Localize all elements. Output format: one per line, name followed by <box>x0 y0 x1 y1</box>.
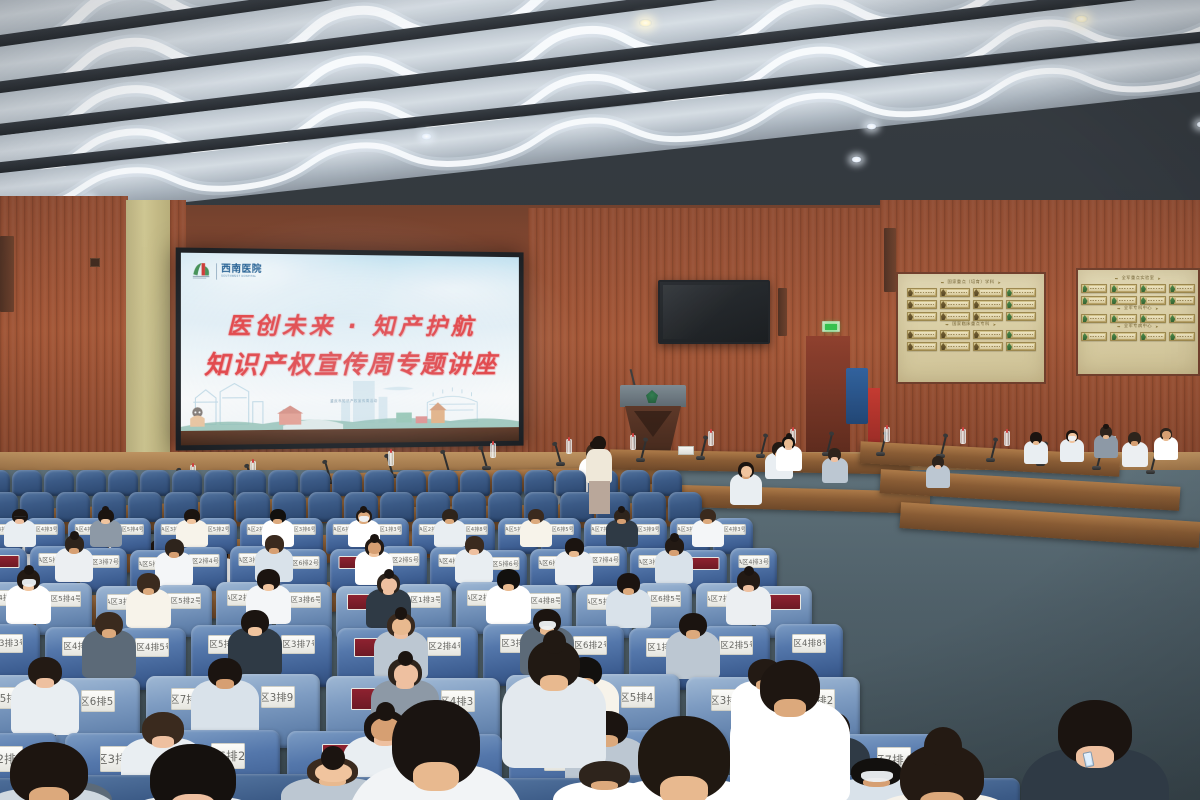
logo-name-en: SOUTHWEST HOSPITAL <box>221 275 262 278</box>
attendee-hair-bun <box>376 702 395 721</box>
attendee-torso <box>606 520 638 547</box>
attendee-face <box>394 664 418 685</box>
standing-bottom <box>589 481 610 514</box>
microphone-base <box>756 454 765 458</box>
wall-mounted-tv[interactable] <box>658 280 770 344</box>
honor-plaque <box>973 330 1003 339</box>
seat-number-text: A区4排3号 <box>32 526 58 533</box>
honor-plaque <box>1169 284 1195 293</box>
microphone-base <box>556 462 565 466</box>
seat-number-text: A区5排4号 <box>118 526 144 533</box>
attendee-neck <box>1103 435 1109 439</box>
attendee-hair-bun <box>70 531 79 540</box>
seat-number-plate: A区3排9号 <box>767 594 801 610</box>
attendee-neck <box>69 548 79 554</box>
seat-number-text: A区3排9号 <box>634 526 660 533</box>
honor-plaque <box>1081 314 1107 323</box>
plaque-emblem-icon <box>1112 333 1117 340</box>
attendee-neck <box>531 519 539 524</box>
plaque-label <box>947 302 968 307</box>
attendee-torso <box>4 520 36 547</box>
plaque-emblem-icon <box>974 331 979 338</box>
seat-number-text: A区1排3号 <box>376 526 402 533</box>
slide-cityscape-illustration <box>181 367 519 431</box>
plaque-emblem-icon <box>941 343 946 350</box>
plaque-emblem-icon <box>1141 315 1146 322</box>
led-presentation-screen: 西南医院 SOUTHWEST HOSPITAL 医创未来 · 知产护航 知识产权… <box>176 247 524 450</box>
seat-number-plate: A区4排3号 <box>32 524 58 535</box>
honor-plaque <box>907 330 937 339</box>
attendee-neck <box>743 585 755 592</box>
honor-plaque <box>1006 300 1036 309</box>
attendee-face <box>392 618 412 635</box>
attendee-neck <box>617 519 625 524</box>
board-section-header: ➥全军重点实验室➤ <box>1081 275 1195 281</box>
water-bottle <box>566 439 572 454</box>
honor-plaque <box>1169 314 1195 323</box>
attendee-hair-bun <box>744 566 754 576</box>
attendee-hair-bun <box>395 607 408 620</box>
plaque-row <box>1081 314 1195 323</box>
plaque-row <box>901 288 1041 297</box>
slide-bottom-bar <box>181 427 519 445</box>
plaque-emblem-icon <box>1007 331 1012 338</box>
plaque-label <box>1013 290 1034 295</box>
attendee-neck <box>143 588 155 595</box>
honor-plaque <box>940 312 970 321</box>
plaque-label <box>1118 298 1135 303</box>
attendee-face <box>741 466 753 477</box>
plaque-label <box>1089 298 1106 303</box>
attendee-hair-bun <box>786 433 792 439</box>
honor-plaque <box>1110 284 1136 293</box>
plaque-emblem-icon <box>908 289 913 296</box>
water-bottle <box>708 431 714 446</box>
exit-sign <box>822 321 840 332</box>
seat-number-text: A区3排7号 <box>281 638 315 650</box>
conference-hall-photo: 西南医院 SOUTHWEST HOSPITAL 医创未来 · 知产护航 知识产权… <box>0 0 1200 800</box>
honor-plaque <box>1006 288 1036 297</box>
plaque-label <box>1013 344 1034 349</box>
desk-nameplate <box>678 446 694 455</box>
honor-plaque <box>1081 332 1107 341</box>
plaque-label <box>1089 334 1106 339</box>
attendee-hair-bun <box>1103 424 1109 430</box>
seat-number-text: A区3排9号 <box>261 689 295 704</box>
plaque-emblem-icon <box>1007 301 1012 308</box>
plaque-emblem-icon <box>1112 297 1117 304</box>
attendee-neck <box>413 762 459 791</box>
seat-number-text: A区4排3号 <box>738 557 769 566</box>
honor-plaque <box>1169 332 1195 341</box>
seat-number-plate: A区5排4号 <box>621 686 655 708</box>
ornament-icon: ➥ <box>1117 324 1121 329</box>
seat-number-plate: A区2排4号 <box>427 637 461 656</box>
board-header-text: 全军专科中心 <box>1124 305 1152 311</box>
board-section-header: ➥全军专病中心➤ <box>1081 323 1195 329</box>
seat-number-plate: A区3排9号 <box>261 686 295 708</box>
honor-plaque <box>907 312 937 321</box>
exit-sign-light <box>825 324 837 330</box>
attendee-face <box>1162 431 1171 439</box>
board-section-header: ➥国家临床重点专科➤ <box>901 321 1041 327</box>
honor-plaque <box>940 288 970 297</box>
wall-speaker-left <box>0 236 14 312</box>
honor-plaque <box>1110 332 1136 341</box>
plaque-emblem-icon <box>1141 333 1146 340</box>
honor-plaque <box>907 288 937 297</box>
plaque-label <box>947 332 968 337</box>
plaque-label <box>1089 286 1106 291</box>
water-bottle <box>884 427 890 442</box>
plaque-label <box>914 332 935 337</box>
plaque-emblem-icon <box>1112 285 1117 292</box>
attendee-neck <box>623 588 635 595</box>
honor-plaque <box>940 342 970 351</box>
attendee-hair-bun <box>670 533 679 542</box>
wall-speaker-right <box>884 228 896 292</box>
honor-plaque <box>907 300 937 309</box>
ornament-icon: ➤ <box>1157 276 1161 281</box>
honor-plaque <box>940 330 970 339</box>
seat-number-plate: A区1排3号 <box>376 524 402 535</box>
board-section-header: ➥国家重点（培育）学科➤ <box>901 279 1041 285</box>
ornament-icon: ➥ <box>945 322 949 327</box>
plaque-emblem-icon <box>1083 297 1088 304</box>
seat-number-plate: A区6排5号 <box>647 591 681 607</box>
seat-number-plate: A区4排8号 <box>462 524 488 535</box>
attendee-hair-bun <box>370 534 379 543</box>
plaque-label <box>1118 316 1135 321</box>
ornament-icon: ➤ <box>1155 324 1159 329</box>
ceiling-spotlight <box>851 156 862 163</box>
seat-number-plate: A区6排5号 <box>548 524 574 535</box>
attendee-neck <box>269 548 279 554</box>
plaque-emblem-icon <box>1007 313 1012 320</box>
plaque-emblem-icon <box>941 301 946 308</box>
honor-plaque <box>1110 296 1136 305</box>
av-equipment-box <box>846 368 868 424</box>
attendee-neck <box>660 776 708 800</box>
seat-number-text: A区1排3号 <box>407 595 441 605</box>
plaque-label <box>1176 334 1193 339</box>
ceiling-spotlight <box>866 123 877 130</box>
plaque-row <box>1081 332 1195 341</box>
plaque-label <box>1089 316 1106 321</box>
attendee-neck <box>445 519 453 524</box>
seat-number-text: A区4排5号 <box>135 641 169 653</box>
slide-content: 西南医院 SOUTHWEST HOSPITAL 医创未来 · 知产护航 知识产权… <box>181 253 519 446</box>
seat-number-plate: A区5排4号 <box>47 591 81 607</box>
seat-number-text: A区3排6号 <box>287 595 321 605</box>
plaque-emblem-icon <box>941 313 946 320</box>
seat-number-plate: A区5排4号 <box>118 524 144 535</box>
water-bottle <box>388 451 394 466</box>
ornament-icon: ➥ <box>1115 276 1119 281</box>
plaque-label <box>914 290 935 295</box>
honor-plaque <box>973 288 1003 297</box>
ornament-icon: ➥ <box>1117 306 1121 311</box>
plaque-emblem-icon <box>974 301 979 308</box>
plaque-label <box>947 290 968 295</box>
plaque-emblem-icon <box>908 343 913 350</box>
water-bottle <box>630 435 636 450</box>
ornament-icon: ➤ <box>1155 306 1159 311</box>
seat-number-text: A区2排5号 <box>719 639 753 651</box>
attendee-head <box>150 744 236 800</box>
attendee-neck <box>669 550 679 556</box>
plaque-label <box>947 314 968 319</box>
attendee-torso <box>692 520 724 547</box>
ceiling-spotlight <box>421 133 432 140</box>
honor-plaque <box>1140 332 1166 341</box>
eyeglasses <box>14 516 26 518</box>
attendee-neck <box>935 465 941 469</box>
seat-number-text: A区4排3号 <box>720 526 746 533</box>
attendee-neck <box>469 549 479 555</box>
seat-number-plate: A区4排5号 <box>0 555 19 568</box>
plaque-emblem-icon <box>908 313 913 320</box>
seat-number-text: A区5排4号 <box>47 594 81 604</box>
plaque-label <box>980 332 1001 337</box>
plaque-label <box>1176 286 1193 291</box>
plaque-label <box>1147 298 1164 303</box>
seat-number-text: A区6排5号 <box>81 693 115 708</box>
attendee-neck <box>248 627 262 635</box>
seat-number-plate: A区6排2号 <box>573 636 607 655</box>
attendee-neck <box>273 519 281 524</box>
attendee-neck <box>187 519 195 524</box>
honor-plaque <box>1006 312 1036 321</box>
attendee-neck <box>1033 441 1039 445</box>
plaque-emblem-icon <box>1170 315 1175 322</box>
seat-number-text: A区4排8号 <box>462 526 488 533</box>
seat-number-text: A区3排3号 <box>0 637 23 649</box>
face-mask <box>1068 436 1075 441</box>
plaque-label <box>980 290 1001 295</box>
attendee-neck <box>1131 441 1138 445</box>
plaque-label <box>1013 314 1034 319</box>
attendee-neck <box>774 699 805 717</box>
seat-number-plate: A区5排2号 <box>204 524 230 535</box>
attendee-neck <box>569 551 579 557</box>
honor-plaque <box>1140 314 1166 323</box>
plaque-emblem-icon <box>1170 297 1175 304</box>
seat-number-text: A区3排6号 <box>290 526 316 533</box>
plaque-emblem-icon <box>1170 285 1175 292</box>
microphone-base <box>696 456 705 460</box>
side-doorway[interactable] <box>806 336 850 454</box>
honor-plaque <box>973 312 1003 321</box>
plaque-emblem-icon <box>1007 343 1012 350</box>
seat-number-plate: A区3排6号 <box>290 524 316 535</box>
plaque-label <box>914 314 935 319</box>
attendee-neck <box>152 736 174 747</box>
honor-plaque <box>1081 296 1107 305</box>
honor-plaque <box>1006 342 1036 351</box>
mascot-figure <box>190 407 204 427</box>
board-header-text: 全军重点实验室 <box>1122 275 1155 281</box>
seat-number-text: A区5排2号 <box>204 526 230 533</box>
honor-board-left: ➥国家重点（培育）学科➤➥国家临床重点专科➤ <box>896 272 1046 384</box>
standing-attendee <box>586 436 612 514</box>
ceiling-spotlight <box>1196 121 1200 128</box>
seat-number-text: A区5排2号 <box>167 596 201 606</box>
attendee-neck <box>169 552 179 558</box>
honor-plaque <box>1110 314 1136 323</box>
attendee-neck <box>686 630 700 638</box>
ornament-icon: ➤ <box>993 322 997 327</box>
ornament-icon: ➤ <box>997 280 1001 285</box>
honor-plaque <box>973 300 1003 309</box>
plaque-row <box>1081 296 1195 305</box>
seat-number-text: A区6排5号 <box>647 594 681 604</box>
water-bottle <box>1004 431 1010 446</box>
ornament-icon: ➥ <box>941 280 945 285</box>
attendee-face <box>381 578 397 593</box>
logo-name-cn: 西南医院 <box>221 264 262 274</box>
attendee-neck <box>102 629 116 637</box>
wall-control-panel-left[interactable] <box>90 258 100 267</box>
honor-plaque <box>1081 284 1107 293</box>
board-section-header: ➥全军专科中心➤ <box>1081 305 1195 311</box>
attendee-neck <box>503 584 515 591</box>
plaque-emblem-icon <box>1083 333 1088 340</box>
microphone-base <box>1092 466 1101 470</box>
plaque-emblem-icon <box>1141 297 1146 304</box>
seat-number-text: A区6排2号 <box>573 639 607 651</box>
plaque-label <box>1118 286 1135 291</box>
attendee-neck <box>540 675 567 691</box>
microphone-base <box>986 458 995 462</box>
plaque-label <box>980 302 1001 307</box>
microphone-base <box>636 458 645 462</box>
seat-number-plate: A区3排3号 <box>0 634 23 653</box>
wall-speaker-center <box>778 288 787 336</box>
plaque-emblem-icon <box>1141 285 1146 292</box>
plaque-emblem-icon <box>941 331 946 338</box>
board-header-text: 国家临床重点专科 <box>952 321 990 327</box>
attendee-neck <box>216 679 233 689</box>
plaque-emblem-icon <box>941 289 946 296</box>
plaque-row <box>901 330 1041 339</box>
seat-number-plate: A区4排8号 <box>527 593 561 609</box>
plaque-emblem-icon <box>908 301 913 308</box>
standing-top <box>586 449 612 483</box>
attendee-torso <box>90 520 122 547</box>
plaque-emblem-icon <box>974 343 979 350</box>
attendee-hair-bun <box>24 565 34 575</box>
attendee-neck <box>591 781 618 791</box>
seat-number-text: A区6排5号 <box>548 526 574 533</box>
ceiling <box>0 0 1200 230</box>
attendee-torso <box>520 520 552 547</box>
honor-plaque <box>1006 330 1036 339</box>
honor-board-right: ➥全军重点实验室➤➥全军专科中心➤➥全军专病中心➤ <box>1076 268 1200 376</box>
seat-number-plate: A区5排2号 <box>167 593 201 609</box>
plaque-label <box>980 344 1001 349</box>
plaque-emblem-icon <box>1170 333 1175 340</box>
board-header-text: 国家重点（培育）学科 <box>948 279 995 285</box>
plaque-label <box>914 344 935 349</box>
phone-screen-content <box>1085 754 1092 766</box>
attendee-hair-bun <box>321 746 345 770</box>
honor-plaque <box>1140 284 1166 293</box>
ceiling-spotlight <box>1075 15 1088 23</box>
attendee-hair-bun <box>924 727 963 766</box>
plaque-label <box>947 344 968 349</box>
seat-number-plate: A区4排5号 <box>135 638 169 657</box>
logo-divider <box>216 263 217 279</box>
attendee-neck <box>101 519 109 524</box>
seat-number-plate: A区4排3号 <box>738 555 769 568</box>
plaque-label <box>1147 286 1164 291</box>
microphone-base <box>876 452 885 456</box>
seat-number-plate: A区1排3号 <box>407 592 441 608</box>
microphone-base <box>1146 470 1155 474</box>
attendee-neck <box>703 519 711 524</box>
attendee-hair-bun <box>384 569 394 579</box>
face-mask <box>359 516 369 522</box>
seat-number-plate: A区4排3号 <box>720 524 746 535</box>
attendee-neck <box>15 519 23 524</box>
slide-logo: 西南医院 SOUTHWEST HOSPITAL <box>191 261 262 281</box>
plaque-row <box>901 300 1041 309</box>
seat-number-text: A区2排4号 <box>427 640 461 652</box>
honor-plaque <box>1140 296 1166 305</box>
seat-number-plate: A区4排8号 <box>792 634 826 653</box>
plaque-label <box>980 314 1001 319</box>
attendee-hair-bun <box>543 630 567 654</box>
wall-panel-left <box>0 196 128 496</box>
plaque-label <box>1147 334 1164 339</box>
plaque-label <box>1013 332 1034 337</box>
seat-number-plate: A区3排9号 <box>634 524 660 535</box>
attendee-neck <box>29 787 70 800</box>
plaque-label <box>1147 316 1164 321</box>
seat-number-text: A区5排4号 <box>621 689 655 704</box>
water-bottle <box>960 429 966 444</box>
seat-number-plate: A区3排6号 <box>287 592 321 608</box>
slide-title-line-1: 医创未来 · 知产护航 <box>181 306 519 341</box>
board-header-text: 全军专病中心 <box>1124 323 1152 329</box>
ceiling-spotlight <box>639 19 652 27</box>
seat-number-plate: A区6排5号 <box>81 690 115 712</box>
honor-plaque <box>940 300 970 309</box>
attendee-neck <box>263 584 275 591</box>
honor-plaque <box>907 342 937 351</box>
plaque-row <box>901 342 1041 351</box>
seat-number-plate: A区2排5号 <box>719 636 753 655</box>
plaque-emblem-icon <box>908 331 913 338</box>
plaque-label <box>914 302 935 307</box>
attendee-neck <box>1076 746 1114 768</box>
plaque-emblem-icon <box>1083 285 1088 292</box>
plaque-emblem-icon <box>1007 289 1012 296</box>
plaque-emblem-icon <box>974 313 979 320</box>
plaque-label <box>1013 302 1034 307</box>
seat-number-text: A区4排8号 <box>527 596 561 606</box>
plaque-label <box>1176 316 1193 321</box>
seat-number-text: A区4排8号 <box>792 637 826 649</box>
plaque-row <box>1081 284 1195 293</box>
plaque-emblem-icon <box>974 289 979 296</box>
plaque-emblem-icon <box>1112 315 1117 322</box>
attendee-neck <box>831 457 838 461</box>
honor-plaque <box>1169 296 1195 305</box>
attendee-neck <box>36 678 53 688</box>
plaque-emblem-icon <box>1083 315 1088 322</box>
